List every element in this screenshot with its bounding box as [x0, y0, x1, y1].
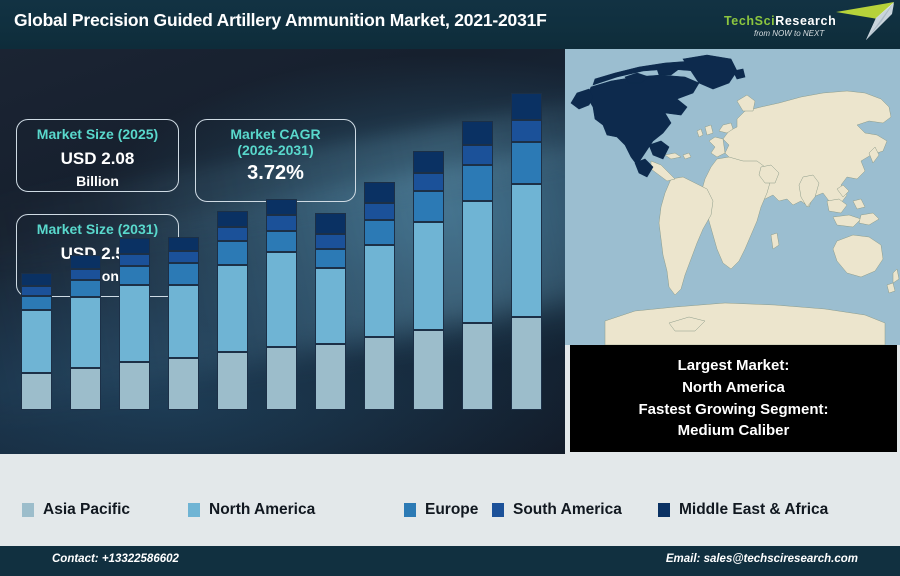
bar-segment-south-america[interactable]	[266, 215, 297, 231]
legend-swatch-icon	[658, 503, 670, 517]
bar-2021[interactable]	[21, 273, 52, 410]
bar-segment-europe[interactable]	[70, 280, 101, 297]
footer-contact: Contact: +13322586602	[52, 553, 179, 565]
bar-segment-south-america[interactable]	[364, 203, 395, 220]
bar-segment-asia-pacific[interactable]	[462, 323, 493, 410]
bar-segment-south-america[interactable]	[70, 269, 101, 280]
bar-segment-north-america[interactable]	[266, 252, 297, 346]
bar-segment-south-america[interactable]	[462, 145, 493, 165]
bar-segment-north-america[interactable]	[511, 184, 542, 317]
bar-segment-north-america[interactable]	[315, 268, 346, 344]
techsci-logo: TechSciResearch from NOW to NEXT	[716, 0, 896, 49]
legend-item-north-america[interactable]: North America	[188, 501, 315, 519]
bar-segment-europe[interactable]	[511, 142, 542, 184]
bar-segment-europe[interactable]	[315, 249, 346, 267]
legend-label: Middle East & Africa	[679, 501, 828, 519]
footer-email: Email: sales@techsciresearch.com	[666, 553, 858, 565]
bar-2027F[interactable]	[315, 213, 346, 410]
bar-segment-asia-pacific[interactable]	[413, 330, 444, 410]
legend-swatch-icon	[22, 503, 34, 517]
bar-2022[interactable]	[70, 255, 101, 410]
bar-segment-south-america[interactable]	[511, 120, 542, 143]
logo-text-techsci: TechSci	[724, 14, 775, 28]
bar-segment-asia-pacific[interactable]	[168, 358, 199, 410]
bar-segment-europe[interactable]	[21, 296, 52, 310]
bar-segment-europe[interactable]	[413, 191, 444, 222]
legend-label: North America	[209, 501, 315, 519]
bar-segment-middle-east-africa[interactable]	[413, 151, 444, 174]
bar-2024[interactable]	[168, 237, 199, 410]
bar-segment-south-america[interactable]	[168, 251, 199, 264]
bar-segment-south-america[interactable]	[119, 254, 150, 267]
bar-segment-north-america[interactable]	[413, 222, 444, 329]
world-map-panel	[565, 49, 900, 345]
bar-segment-south-america[interactable]	[315, 234, 346, 250]
bar-2026E[interactable]	[266, 199, 297, 410]
bar-segment-middle-east-africa[interactable]	[266, 199, 297, 216]
legend-item-south-america[interactable]: South America	[492, 501, 622, 519]
infographic-root: Global Precision Guided Artillery Ammuni…	[0, 0, 900, 576]
bar-segment-europe[interactable]	[462, 165, 493, 202]
bar-2030F[interactable]	[462, 121, 493, 410]
largest-market-value: North America	[682, 377, 785, 399]
bar-2029F[interactable]	[413, 151, 444, 410]
bar-segment-middle-east-africa[interactable]	[364, 182, 395, 203]
bar-segment-middle-east-africa[interactable]	[119, 238, 150, 254]
logo-wordmark: TechSciResearch	[724, 14, 864, 28]
bar-segment-north-america[interactable]	[21, 310, 52, 373]
market-highlights-box: Largest Market: North America Fastest Gr…	[570, 345, 897, 452]
bar-segment-south-america[interactable]	[21, 286, 52, 296]
world-map-icon	[565, 49, 900, 345]
legend-label: Europe	[425, 501, 478, 519]
header-bar: Global Precision Guided Artillery Ammuni…	[0, 0, 900, 49]
bar-2031F[interactable]	[511, 93, 542, 410]
bar-segment-europe[interactable]	[364, 220, 395, 245]
legend-swatch-icon	[492, 503, 504, 517]
bar-segment-europe[interactable]	[168, 263, 199, 284]
legend-swatch-icon	[404, 503, 416, 517]
bar-segment-north-america[interactable]	[119, 285, 150, 363]
logo-tagline: from NOW to NEXT	[754, 29, 824, 38]
bar-segment-north-america[interactable]	[462, 201, 493, 322]
bar-2025[interactable]	[217, 211, 248, 410]
bar-segment-asia-pacific[interactable]	[217, 352, 248, 410]
bar-segment-asia-pacific[interactable]	[315, 344, 346, 410]
fastest-segment-value: Medium Caliber	[678, 420, 790, 442]
legend-item-middle-east-africa[interactable]: Middle East & Africa	[658, 501, 828, 519]
bar-segment-europe[interactable]	[119, 266, 150, 284]
bar-segment-middle-east-africa[interactable]	[315, 213, 346, 234]
bar-segment-middle-east-africa[interactable]	[168, 237, 199, 251]
bar-segment-middle-east-africa[interactable]	[21, 273, 52, 286]
page-title: Global Precision Guided Artillery Ammuni…	[14, 10, 547, 31]
bar-segment-asia-pacific[interactable]	[119, 362, 150, 410]
chart-panel: Market Size (2025) USD 2.08 Billion Mark…	[0, 49, 565, 454]
bar-2028F[interactable]	[364, 182, 395, 410]
bar-2023[interactable]	[119, 238, 150, 410]
bar-segment-north-america[interactable]	[168, 285, 199, 358]
bar-segment-asia-pacific[interactable]	[21, 373, 52, 410]
legend-item-asia-pacific[interactable]: Asia Pacific	[22, 501, 130, 519]
bar-segment-middle-east-africa[interactable]	[217, 211, 248, 227]
logo-text-research: Research	[775, 14, 836, 28]
bar-segment-europe[interactable]	[266, 231, 297, 252]
bar-segment-asia-pacific[interactable]	[364, 337, 395, 410]
legend-label: South America	[513, 501, 622, 519]
bar-segment-middle-east-africa[interactable]	[462, 121, 493, 145]
legend-swatch-icon	[188, 503, 200, 517]
footer-bar: Contact: +13322586602 Email: sales@techs…	[0, 546, 900, 576]
bar-segment-north-america[interactable]	[217, 265, 248, 352]
bar-segment-south-america[interactable]	[217, 227, 248, 241]
bar-segment-asia-pacific[interactable]	[266, 347, 297, 410]
bar-segment-middle-east-africa[interactable]	[70, 255, 101, 269]
bar-segment-north-america[interactable]	[364, 245, 395, 337]
bar-segment-middle-east-africa[interactable]	[511, 93, 542, 120]
bar-segment-europe[interactable]	[217, 241, 248, 265]
legend-item-europe[interactable]: Europe	[404, 501, 478, 519]
stacked-bar-chart	[0, 49, 565, 454]
bar-segment-asia-pacific[interactable]	[70, 368, 101, 410]
chart-legend: Asia PacificNorth AmericaEuropeSouth Ame…	[0, 486, 900, 534]
bar-segment-north-america[interactable]	[70, 297, 101, 368]
axis-strip	[0, 454, 565, 486]
bar-segment-asia-pacific[interactable]	[511, 317, 542, 410]
bar-segment-south-america[interactable]	[413, 173, 444, 191]
legend-label: Asia Pacific	[43, 501, 130, 519]
largest-market-label: Largest Market:	[678, 355, 790, 377]
fastest-segment-label: Fastest Growing Segment:	[638, 399, 828, 421]
